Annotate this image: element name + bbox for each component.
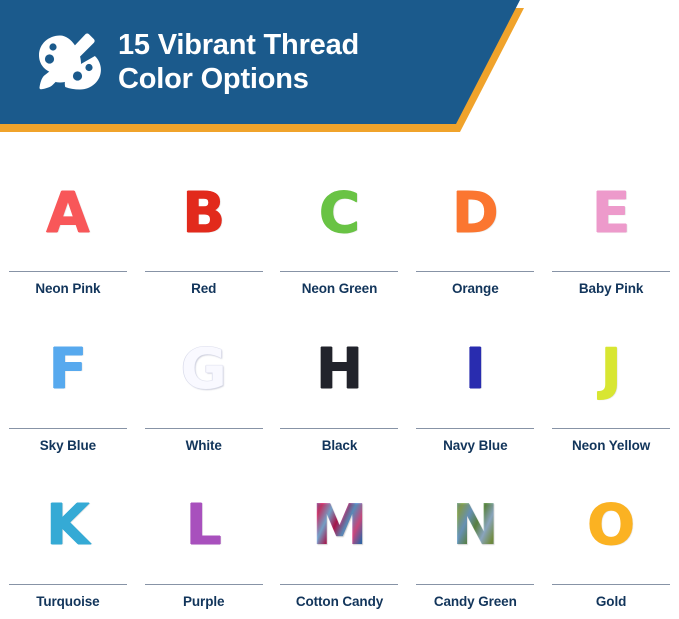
letter-sample: G	[144, 312, 264, 427]
thread-letter-glyph: J	[601, 342, 622, 398]
swatch-divider	[416, 584, 534, 585]
letter-sample: J	[551, 312, 671, 427]
swatch-divider	[145, 584, 263, 585]
color-swatch-cell[interactable]: JNeon Yellow	[543, 306, 679, 462]
page-title: 15 Vibrant Thread Color Options	[118, 28, 359, 96]
color-name-label: Navy Blue	[443, 438, 507, 453]
color-swatch-cell[interactable]: ANeon Pink	[0, 150, 136, 306]
header-banner: 15 Vibrant Thread Color Options	[0, 0, 679, 140]
color-name-label: Cotton Candy	[296, 594, 383, 609]
color-name-label: Sky Blue	[40, 438, 96, 453]
letter-sample: B	[144, 156, 264, 271]
color-name-label: Neon Pink	[35, 281, 100, 296]
letter-sample: L	[144, 469, 264, 584]
color-name-label: Baby Pink	[579, 281, 643, 296]
swatch-divider	[9, 271, 127, 272]
color-swatch-cell[interactable]: HBlack	[272, 306, 408, 462]
palette-icon	[30, 26, 102, 98]
letter-sample: O	[551, 469, 671, 584]
color-swatch-cell[interactable]: FSky Blue	[0, 306, 136, 462]
swatch-divider	[416, 271, 534, 272]
color-name-label: Orange	[452, 281, 499, 296]
thread-letter-glyph: C	[319, 186, 360, 242]
color-swatch-cell[interactable]: KTurquoise	[0, 463, 136, 619]
thread-letter-glyph: F	[49, 342, 87, 398]
color-swatch-cell[interactable]: MCotton Candy	[272, 463, 408, 619]
thread-letter-glyph: H	[316, 342, 363, 398]
letter-sample: D	[415, 156, 535, 271]
color-swatch-cell[interactable]: NCandy Green	[407, 463, 543, 619]
color-swatch-cell[interactable]: LPurple	[136, 463, 272, 619]
thread-letter-glyph: N	[452, 498, 499, 554]
color-name-label: Black	[322, 438, 358, 453]
thread-letter-glyph: D	[452, 186, 498, 242]
color-name-label: Candy Green	[434, 594, 517, 609]
thread-letter-glyph: G	[181, 342, 227, 398]
swatch-divider	[145, 428, 263, 429]
thread-letter-glyph: L	[186, 498, 222, 554]
color-name-label: Purple	[183, 594, 224, 609]
color-swatch-cell[interactable]: CNeon Green	[272, 150, 408, 306]
swatch-divider	[552, 271, 670, 272]
thread-letter-glyph: K	[46, 498, 89, 554]
color-name-label: Gold	[596, 594, 626, 609]
color-swatch-cell[interactable]: DOrange	[407, 150, 543, 306]
letter-sample: E	[551, 156, 671, 271]
thread-letter-glyph: M	[312, 498, 368, 554]
swatch-divider	[280, 271, 398, 272]
color-swatch-cell[interactable]: INavy Blue	[407, 306, 543, 462]
color-name-label: Turquoise	[36, 594, 99, 609]
thread-letter-glyph: I	[465, 342, 486, 398]
thread-color-grid: ANeon PinkBRedCNeon GreenDOrangeEBaby Pi…	[0, 150, 679, 619]
color-swatch-cell[interactable]: GWhite	[136, 306, 272, 462]
swatch-divider	[552, 428, 670, 429]
color-swatch-cell[interactable]: EBaby Pink	[543, 150, 679, 306]
letter-sample: F	[8, 312, 128, 427]
thread-letter-glyph: B	[182, 186, 225, 242]
swatch-divider	[145, 271, 263, 272]
color-name-label: Neon Yellow	[572, 438, 650, 453]
letter-sample: K	[8, 469, 128, 584]
color-name-label: Red	[191, 281, 216, 296]
thread-letter-glyph: A	[46, 186, 89, 242]
color-swatch-cell[interactable]: BRed	[136, 150, 272, 306]
letter-sample: M	[280, 469, 400, 584]
color-name-label: White	[186, 438, 222, 453]
swatch-divider	[9, 584, 127, 585]
swatch-divider	[416, 428, 534, 429]
letter-sample: C	[280, 156, 400, 271]
swatch-divider	[280, 428, 398, 429]
swatch-divider	[552, 584, 670, 585]
title-line-1: 15 Vibrant Thread	[118, 29, 359, 61]
letter-sample: H	[280, 312, 400, 427]
color-swatch-cell[interactable]: OGold	[543, 463, 679, 619]
thread-letter-glyph: E	[592, 186, 630, 242]
title-line-2: Color Options	[118, 62, 359, 96]
color-name-label: Neon Green	[302, 281, 378, 296]
swatch-divider	[9, 428, 127, 429]
letter-sample: N	[415, 469, 535, 584]
letter-sample: A	[8, 156, 128, 271]
swatch-divider	[280, 584, 398, 585]
letter-sample: I	[415, 312, 535, 427]
thread-letter-glyph: O	[587, 498, 635, 554]
